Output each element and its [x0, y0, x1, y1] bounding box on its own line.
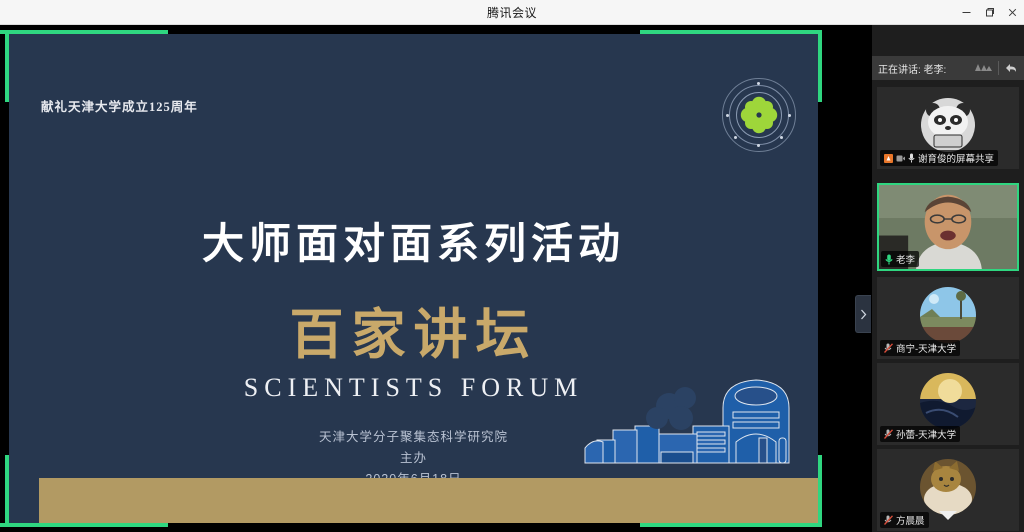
- chevron-right-icon: [860, 309, 867, 320]
- flower-glyph-icon: [739, 95, 779, 135]
- participant-name: 老李: [896, 252, 915, 266]
- slide-bottom-band: [39, 478, 818, 523]
- campus-buildings-illustration: [573, 368, 818, 478]
- molecular-aggregate-logo: [722, 78, 796, 152]
- mic-muted-icon: [884, 429, 893, 439]
- scroll-down-button[interactable]: [872, 509, 1024, 522]
- maximize-icon: [984, 7, 995, 18]
- participant-name: 谢育俊的屏幕共享: [918, 151, 994, 165]
- speaking-indicator-bar: 正在讲话: 老李:: [872, 56, 1024, 80]
- speaking-indicator-text: 正在讲话: 老李:: [878, 61, 946, 76]
- camera-off-icon: [896, 154, 905, 163]
- panda-avatar: [920, 97, 976, 153]
- collapse-panel-handle[interactable]: [855, 295, 871, 333]
- cat-avatar: [920, 459, 976, 515]
- sound-wave-icon: [973, 62, 993, 74]
- landscape-avatar-icon: [920, 287, 976, 343]
- slide-series-title: 大师面对面系列活动: [9, 210, 818, 271]
- participant-name: 孙蕾-天津大学: [896, 427, 956, 441]
- maximize-button[interactable]: [978, 0, 1001, 25]
- return-arrow-icon[interactable]: [1004, 62, 1018, 74]
- mic-active-icon: [885, 254, 893, 265]
- sunset-avatar-icon: [920, 373, 976, 429]
- close-icon: [1007, 7, 1018, 18]
- cat-avatar-icon: [920, 459, 976, 515]
- participant-nametag: 孙蕾-天津大学: [880, 426, 960, 442]
- window-controls: [955, 0, 1024, 25]
- window-titlebar: 腾讯会议: [0, 0, 1024, 25]
- anniversary-text: 献礼天津大学成立125周年: [41, 96, 198, 115]
- participant-tile-active-speaker[interactable]: 老李: [877, 183, 1019, 271]
- close-button[interactable]: [1001, 0, 1024, 25]
- shared-screen-stage[interactable]: 献礼天津大学成立125周年: [0, 25, 872, 532]
- participant-rail: 正在讲话: 老李:: [872, 25, 1024, 532]
- presentation-slide: 献礼天津大学成立125周年: [9, 34, 818, 523]
- slide-forum-title-cn: 百家讲坛: [9, 290, 818, 369]
- mic-muted-icon: [884, 343, 893, 353]
- panda-avatar-icon: [920, 97, 976, 153]
- window-title: 腾讯会议: [487, 4, 537, 21]
- participant-tile-screen-share[interactable]: 谢育俊的屏幕共享: [877, 87, 1019, 169]
- participant-tile-4[interactable]: 孙蕾-天津大学: [877, 363, 1019, 445]
- chevron-down-icon: [937, 509, 959, 522]
- minimize-button[interactable]: [955, 0, 978, 25]
- participant-nametag: 商宁-天津大学: [880, 340, 960, 356]
- mic-icon: [908, 153, 915, 163]
- sunset-avatar: [920, 373, 976, 429]
- participant-nametag: 老李: [881, 251, 919, 267]
- share-screen-icon: [884, 154, 893, 163]
- tencent-meeting-window: 腾讯会议 献礼天津大学成立125周年: [0, 0, 1024, 532]
- participant-name: 商宁-天津大学: [896, 341, 956, 355]
- minimize-icon: [961, 7, 972, 18]
- landscape-avatar: [920, 287, 976, 343]
- participant-nametag: 谢育俊的屏幕共享: [880, 150, 998, 166]
- participant-tile-3[interactable]: 商宁-天津大学: [877, 277, 1019, 359]
